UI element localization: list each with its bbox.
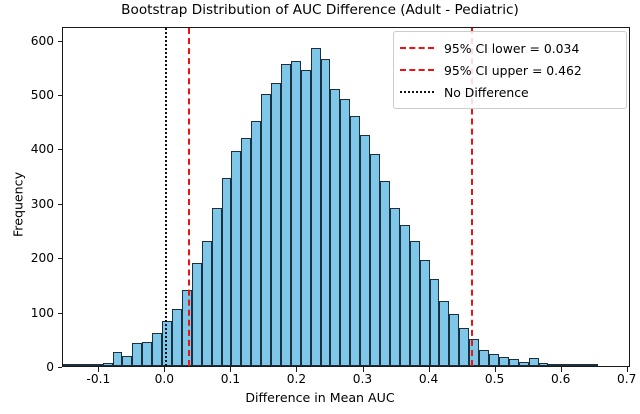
x-tick-label: 0.4 [419,372,438,386]
x-tick-label: 0.5 [485,372,504,386]
y-tick-label: 100 [2,306,54,320]
x-tick-mark [230,367,231,372]
legend-line-swatch [400,91,434,93]
y-tick-mark [58,313,63,314]
x-tick-label: 0.3 [353,372,372,386]
legend-line-swatch [400,69,434,71]
reference-line-no-difference [165,28,167,366]
x-tick-mark [296,367,297,372]
chart-title: Bootstrap Distribution of AUC Difference… [0,2,640,18]
x-tick-label: 0.1 [221,372,240,386]
x-tick-mark [98,367,99,372]
chart-legend: 95% CI lower = 0.03495% CI upper = 0.462… [393,31,627,109]
legend-label: 95% CI lower = 0.034 [444,41,579,56]
legend-label: No Difference [444,85,529,100]
legend-entry: No Difference [400,81,619,103]
x-tick-mark [627,367,628,372]
x-tick-mark [561,367,562,372]
x-tick-mark [164,367,165,372]
legend-entry: 95% CI upper = 0.462 [400,59,619,81]
y-tick-mark [58,149,63,150]
y-tick-mark [58,41,63,42]
x-axis-label: Difference in Mean AUC [0,390,640,405]
y-tick-mark [58,367,63,368]
x-tick-label: 0.2 [287,372,306,386]
x-tick-label: -0.1 [86,372,110,386]
legend-line-swatch [400,47,434,49]
y-tick-mark [58,95,63,96]
y-tick-mark [58,258,63,259]
x-tick-label: 0.6 [551,372,570,386]
y-tick-label: 500 [2,88,54,102]
x-tick-mark [429,367,430,372]
x-tick-mark [363,367,364,372]
y-tick-label: 0 [2,360,54,374]
x-tick-label: 0.7 [617,372,636,386]
y-tick-label: 600 [2,34,54,48]
y-axis-label: Frequency [11,145,26,265]
legend-entry: 95% CI lower = 0.034 [400,37,619,59]
reference-line-ci-lower [188,28,190,366]
x-tick-mark [495,367,496,372]
x-tick-label: 0.0 [155,372,174,386]
y-tick-mark [58,204,63,205]
legend-label: 95% CI upper = 0.462 [444,63,582,78]
chart-figure: Bootstrap Distribution of AUC Difference… [0,0,640,414]
